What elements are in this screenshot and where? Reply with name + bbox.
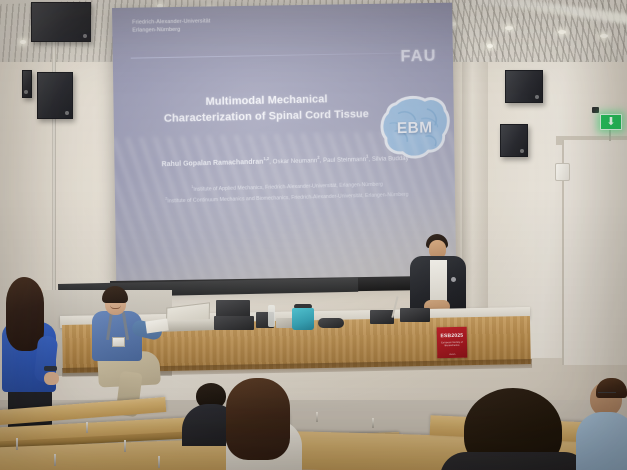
poster-title: ESB2025 (437, 334, 467, 340)
desk-equipment-right (400, 308, 430, 322)
presenter-jacket-logo (451, 277, 456, 282)
doorway (562, 140, 627, 365)
desk-divider-pin (86, 422, 88, 433)
standing-woman-hand (44, 372, 59, 385)
fau-logo: FAU (400, 46, 436, 66)
slide-organization: Friedrich-Alexander-Universität Erlangen… (132, 18, 210, 35)
author-co-1: , Oskar Neumann (269, 157, 317, 165)
wall-speaker-left-small (22, 70, 32, 98)
author-presenting: Rahul Gopalan Ramachandran (162, 159, 264, 169)
downlight (558, 30, 566, 34)
wall-mounted-device[interactable] (555, 163, 570, 181)
affiliation-2-text: Institute of Continuum Mechanics and Bio… (167, 192, 408, 205)
wall-speaker-right-upper (505, 70, 543, 103)
standing-woman-watch (44, 366, 57, 371)
cable-coil (318, 318, 344, 328)
downlight (20, 40, 26, 44)
teal-container (292, 308, 314, 330)
org-line-2: Erlangen-Nürnberg (132, 26, 210, 35)
downlight (505, 26, 513, 30)
wall-socket[interactable] (592, 107, 599, 113)
wall-speaker-right-lower (500, 124, 528, 157)
ebm-logo-text: EBM (377, 93, 453, 165)
ceiling-speaker-left-upper (31, 2, 91, 42)
audience-3-shoulders (440, 452, 590, 470)
lecture-hall-photo: ⬇ Friedrich-Alexander-Universität Erlang… (0, 0, 627, 470)
poster-subtitle: European Society of Biomechanics (437, 341, 467, 348)
slide-title: Multimodal Mechanical Characterization o… (113, 90, 417, 129)
control-console[interactable] (214, 316, 254, 330)
downlight (487, 44, 493, 48)
wall-speaker-left-lower (37, 72, 73, 119)
conference-poster: ESB2025 European Society of Biomechanics… (437, 327, 468, 359)
projection-screen: Friedrich-Alexander-Universität Erlangen… (112, 3, 456, 288)
water-bottle (268, 305, 275, 327)
seated-man-polo (92, 311, 142, 361)
exit-sign: ⬇ (600, 114, 622, 130)
desk-divider-pin (54, 454, 56, 466)
ebm-brain-logo: EBM (377, 93, 453, 165)
slide-divider (131, 52, 436, 59)
slide-affiliations: 1Institute of Applied Mechanics, Friedri… (125, 177, 448, 208)
desk-divider-pin (316, 412, 318, 422)
desk-divider-pin (158, 456, 160, 468)
author-co-2: , Paul Steinmann (320, 156, 367, 164)
audience-4-glasses (598, 392, 616, 396)
desk-divider-pin (124, 440, 126, 452)
audience-4-shoulders (576, 412, 627, 470)
poster-footer: Zürich (437, 354, 467, 357)
slide-surface: Friedrich-Alexander-Universität Erlangen… (112, 3, 456, 288)
downlight (600, 34, 608, 38)
exit-arrow-icon: ⬇ (606, 117, 615, 128)
audience-2-hair (226, 378, 290, 460)
desk-divider-pin (16, 438, 18, 450)
desk-divider-pin (372, 418, 374, 428)
conference-badge (112, 337, 125, 347)
